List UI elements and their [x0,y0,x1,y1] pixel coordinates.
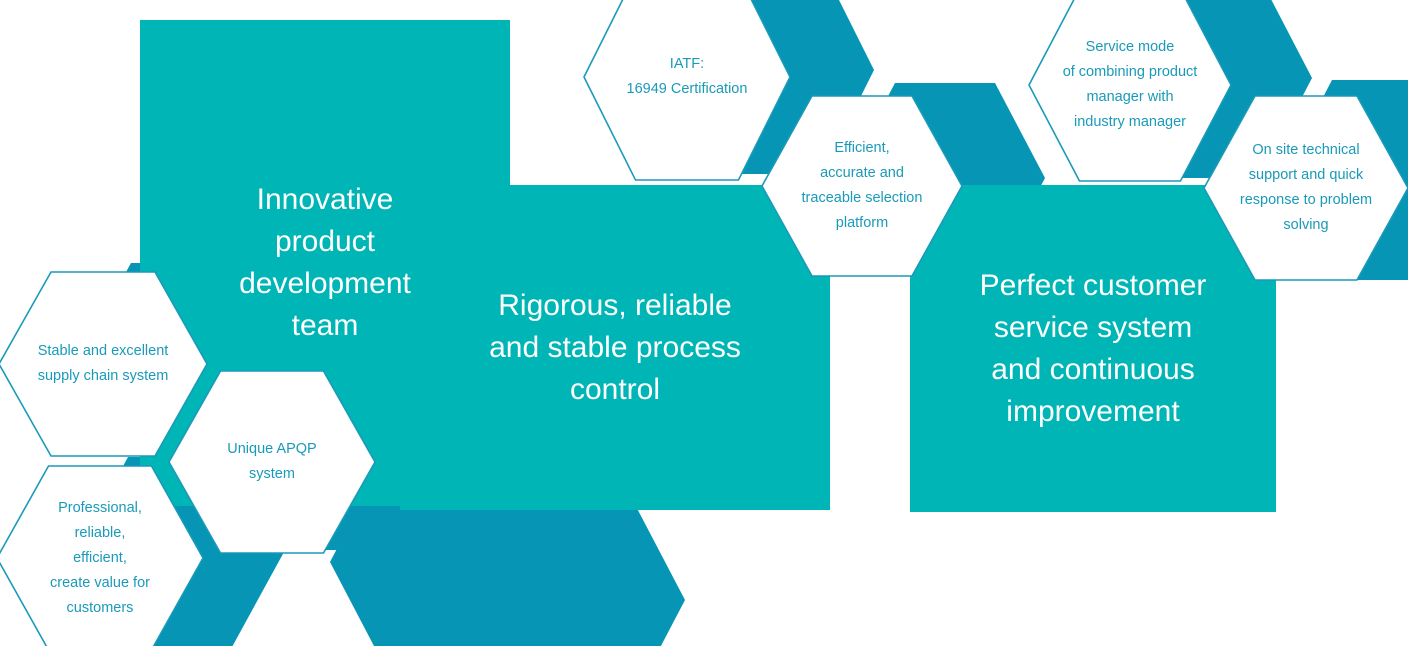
panel-rigorous-reliable-stable-process-control-text: Rigorous, reliable and stable process co… [400,185,830,510]
infographic-canvas: Innovative product development teamRigor… [0,0,1408,646]
panel-perfect-customer-service-system-text: Perfect customer service system and cont… [910,185,1276,512]
